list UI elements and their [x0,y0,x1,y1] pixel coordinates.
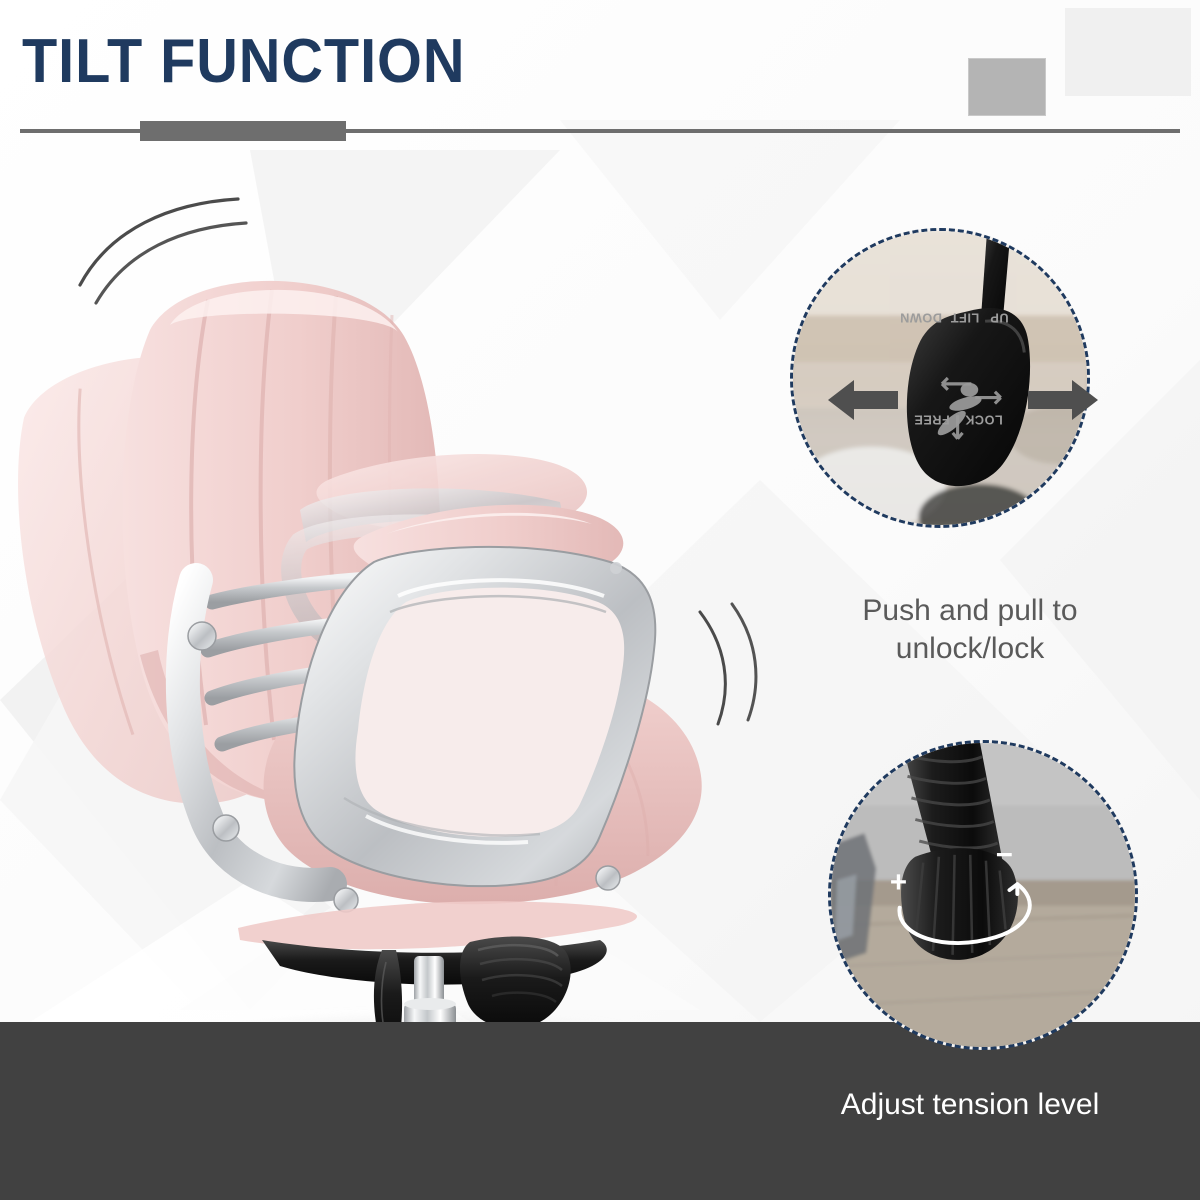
callout-circle-2: + − [828,740,1138,1050]
decor-rectangle-light [1065,8,1191,96]
infographic-canvas: TILT FUNCTION [0,0,1200,1200]
page-title: TILT FUNCTION [22,26,465,97]
header-rule-thick [140,121,346,141]
tension-increase-symbol: + [890,866,907,899]
svg-text:UP: UP [990,310,1009,325]
callout-caption-tension: Adjust tension level [740,1086,1200,1124]
decor-rectangle-gray [968,58,1046,116]
arrow-right-icon [1028,378,1098,422]
knob-photo: + − [831,743,1135,1047]
arrow-left-icon [828,378,898,422]
tension-decrease-symbol: − [996,839,1013,872]
svg-text:DOWN: DOWN [900,310,942,325]
callout-caption-unlock-lock: Push and pull to unlock/lock [760,592,1180,669]
svg-text:LOCK: LOCK [964,412,1002,427]
svg-text:LIFT: LIFT [950,310,979,325]
backrest-tilt-arcs [70,195,250,305]
tension-knob [460,937,571,1029]
